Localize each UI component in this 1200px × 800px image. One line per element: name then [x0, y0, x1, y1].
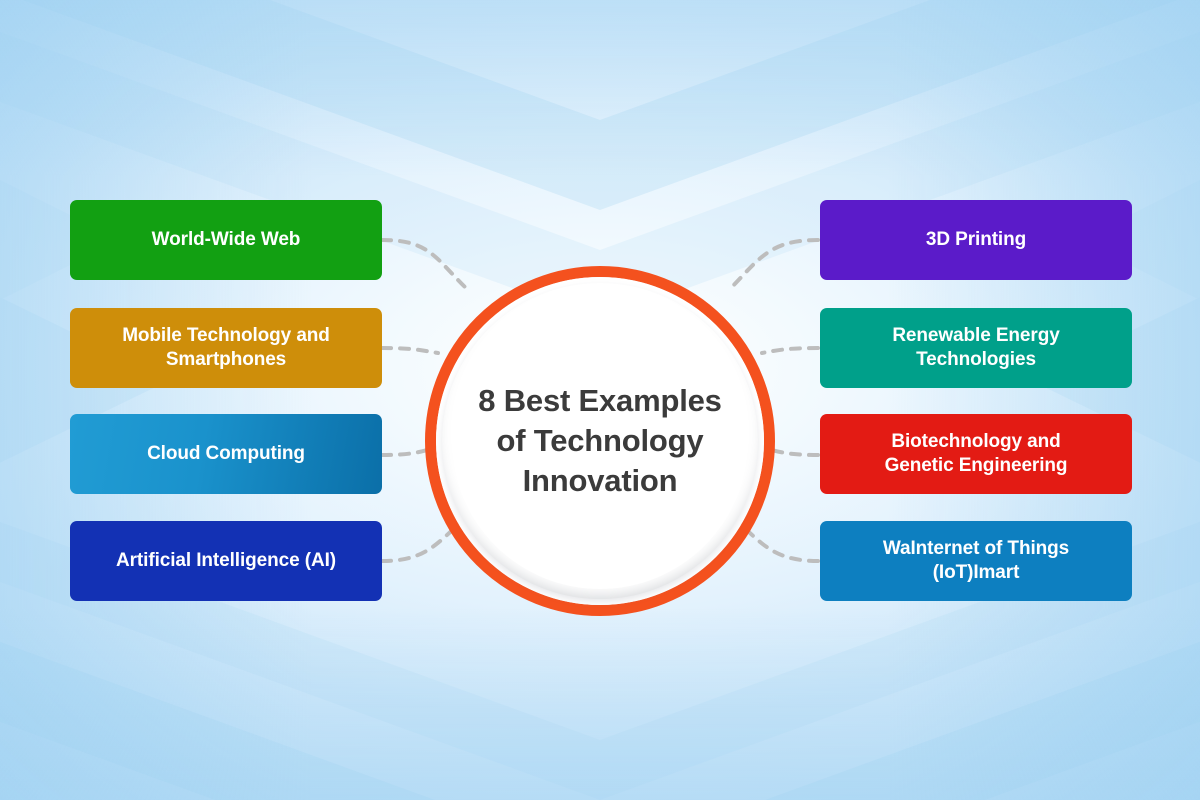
node-right-1[interactable]: 3D Printing — [820, 200, 1132, 280]
node-right-3[interactable]: Biotechnology and Genetic Engineering — [820, 414, 1132, 494]
node-right-3-label: Biotechnology and Genetic Engineering — [885, 430, 1068, 478]
node-right-4-label: WaInternet of Things (IoT)Imart — [883, 537, 1069, 585]
node-left-3-label: Cloud Computing — [147, 442, 305, 466]
node-left-1[interactable]: World-Wide Web — [70, 200, 382, 280]
node-left-3[interactable]: Cloud Computing — [70, 414, 382, 494]
center-title: 8 Best Examples of Technology Innovation — [462, 381, 737, 500]
node-right-1-label: 3D Printing — [926, 228, 1026, 252]
infographic-canvas: World-Wide Web Mobile Technology and Sma… — [0, 0, 1200, 800]
node-right-2[interactable]: Renewable Energy Technologies — [820, 308, 1132, 388]
node-left-4[interactable]: Artificial Intelligence (AI) — [70, 521, 382, 601]
hub-face: 8 Best Examples of Technology Innovation — [452, 293, 748, 589]
node-left-1-label: World-Wide Web — [152, 228, 301, 252]
node-left-2[interactable]: Mobile Technology and Smartphones — [70, 308, 382, 388]
node-left-4-label: Artificial Intelligence (AI) — [116, 549, 336, 573]
node-left-2-label: Mobile Technology and Smartphones — [122, 324, 330, 372]
center-hub: 8 Best Examples of Technology Innovation — [425, 266, 775, 616]
node-right-4[interactable]: WaInternet of Things (IoT)Imart — [820, 521, 1132, 601]
node-right-2-label: Renewable Energy Technologies — [892, 324, 1059, 372]
